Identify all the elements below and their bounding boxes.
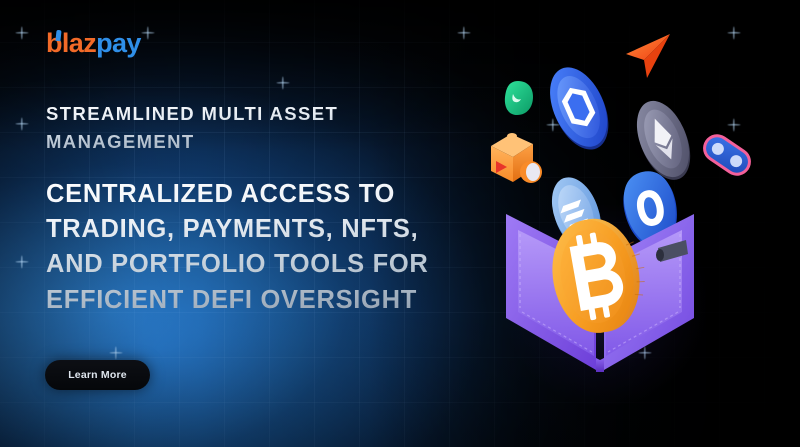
page-title: CENTRALIZED ACCESS TO TRADING, PAYMENTS,… xyxy=(46,177,476,318)
bitcoin-coin-icon xyxy=(545,215,645,337)
brand-logo[interactable]: blazpay xyxy=(46,30,141,57)
orange-cube-token-icon xyxy=(483,128,549,190)
chainlink-token-icon xyxy=(545,62,613,154)
paper-plane-icon xyxy=(622,30,674,82)
crypto-wallet-illustration xyxy=(445,0,800,447)
logo-text-secondary: pay xyxy=(96,28,141,58)
learn-more-button[interactable]: Learn More xyxy=(45,360,150,390)
hero-banner: blazpay STREAMLINED MULTI ASSET MANAGEME… xyxy=(0,0,800,447)
eyebrow-text: STREAMLINED MULTI ASSET MANAGEMENT xyxy=(46,100,446,156)
learn-more-label: Learn More xyxy=(68,369,127,381)
pill-token-icon xyxy=(695,128,759,182)
green-badge-token-icon xyxy=(502,78,536,118)
logo-text-primary: blaz xyxy=(46,28,96,58)
